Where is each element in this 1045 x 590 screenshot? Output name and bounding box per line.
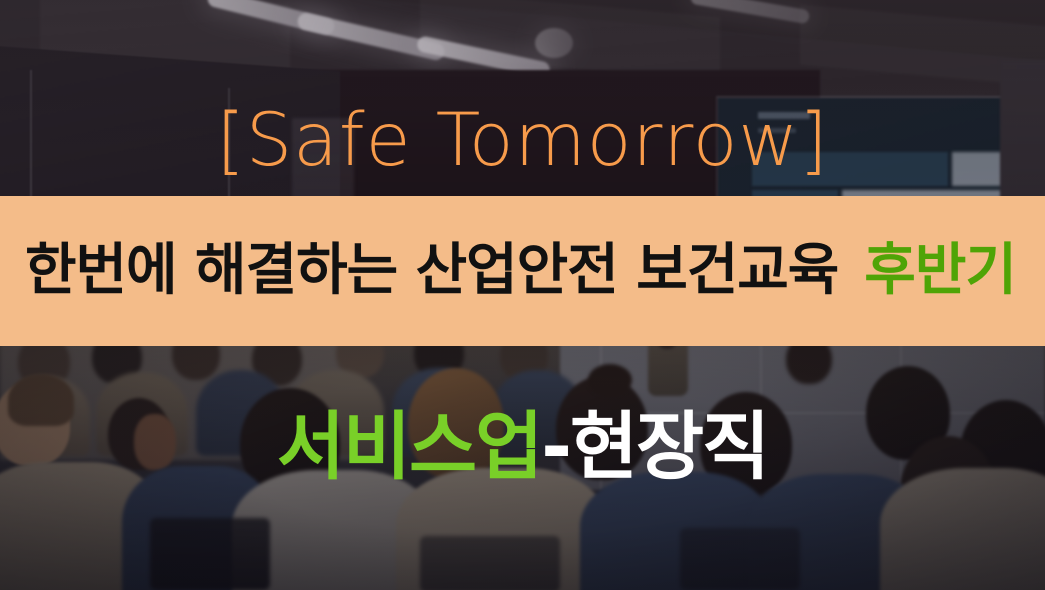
page-title: [Safe Tomorrow] bbox=[0, 104, 1045, 177]
subtitle: 서비스업-현장직 bbox=[0, 410, 1045, 484]
headline-main-text: 한번에 해결하는 산업안전 보건교육 bbox=[25, 243, 838, 299]
headline-accent-text: 후반기 bbox=[864, 243, 1016, 299]
subtitle-role-text: -현장직 bbox=[541, 404, 768, 490]
course-thumbnail-banner: [Safe Tomorrow] 한번에 해결하는 산업안전 보건교육 후반기 서… bbox=[0, 0, 1045, 590]
subtitle-category-text: 서비스업 bbox=[277, 404, 541, 490]
headline-strip: 한번에 해결하는 산업안전 보건교육 후반기 bbox=[0, 196, 1045, 346]
headline-strip-content: 한번에 해결하는 산업안전 보건교육 후반기 bbox=[0, 243, 1016, 299]
ceiling-speaker-icon bbox=[535, 28, 573, 58]
